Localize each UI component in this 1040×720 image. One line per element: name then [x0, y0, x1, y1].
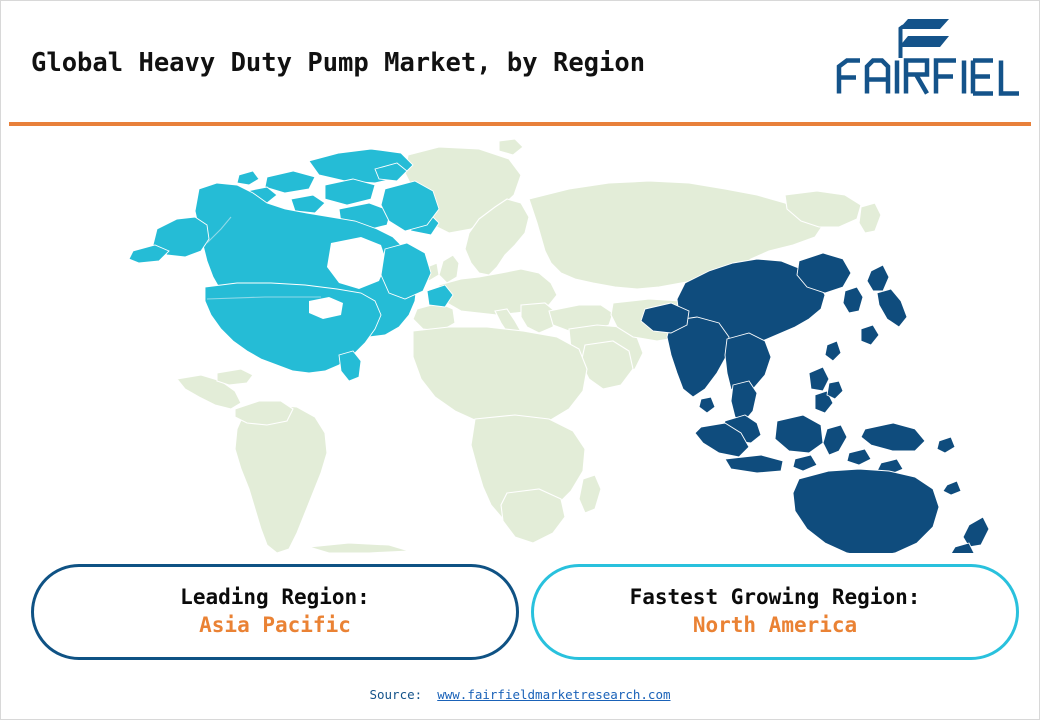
fastest-growing-region-label: Fastest Growing Region: [630, 584, 921, 612]
map-region-asia-pacific[interactable] [641, 253, 989, 553]
world-region-map [9, 133, 1031, 553]
fairfield-logo [836, 13, 1022, 99]
leading-region-label: Leading Region: [180, 584, 370, 612]
header-divider [9, 122, 1031, 126]
map-region-north-america[interactable] [129, 149, 453, 381]
source-label: Source: [369, 687, 422, 702]
source-link[interactable]: www.fairfieldmarketresearch.com [437, 687, 670, 702]
region-cards: Leading Region: Asia Pacific Fastest Gro… [1, 561, 1039, 666]
page-title: Global Heavy Duty Pump Market, by Region [31, 48, 645, 78]
fairfield-wordmark [836, 57, 1022, 97]
infographic-page: Global Heavy Duty Pump Market, by Region [0, 0, 1040, 720]
leading-region-value: Asia Pacific [199, 612, 351, 640]
fairfield-f-mark-icon [891, 13, 953, 59]
leading-region-card[interactable]: Leading Region: Asia Pacific [31, 564, 519, 660]
header: Global Heavy Duty Pump Market, by Region [1, 1, 1039, 123]
map-container [9, 133, 1031, 553]
fastest-growing-region-card[interactable]: Fastest Growing Region: North America [531, 564, 1019, 660]
fastest-growing-region-value: North America [693, 612, 857, 640]
footer: Source: www.fairfieldmarketresearch.com [1, 687, 1039, 702]
